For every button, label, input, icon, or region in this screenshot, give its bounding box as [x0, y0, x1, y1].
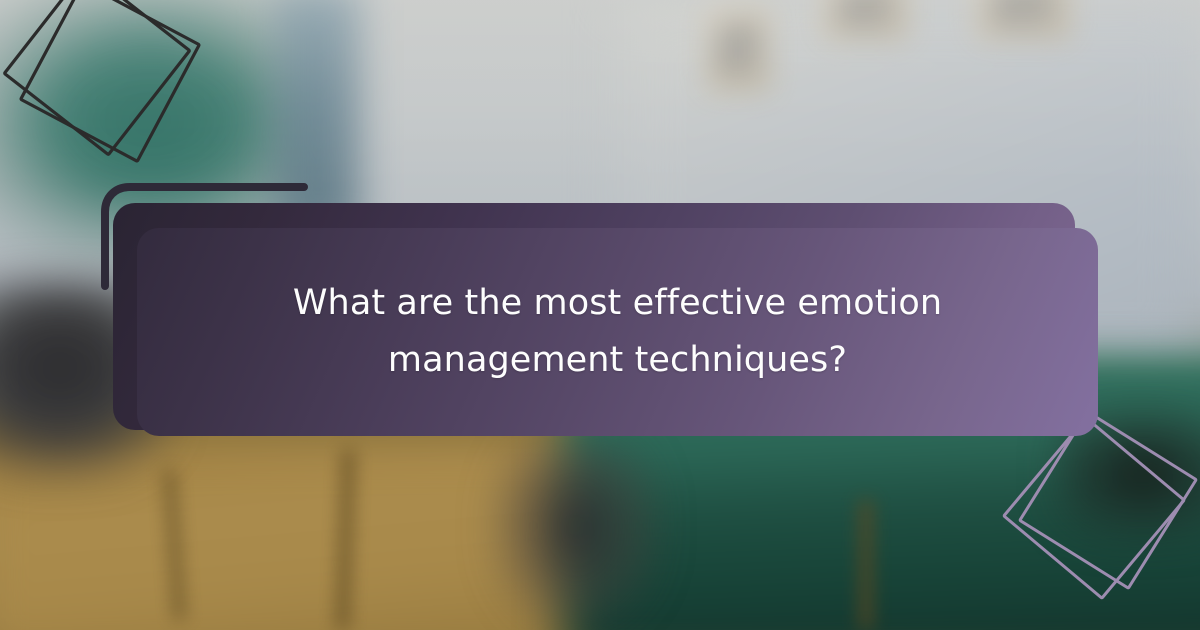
- decorative-squares-bottom-right: [988, 426, 1200, 630]
- decorative-squares-top-left: [0, 0, 226, 204]
- quote-card: What are the most effective emotion mana…: [137, 228, 1098, 436]
- square-outline-a: [1004, 418, 1184, 598]
- square-outline-b: [21, 0, 200, 161]
- square-outline-b: [1020, 412, 1196, 588]
- social-share-card-canvas: What are the most effective emotion mana…: [0, 0, 1200, 630]
- page-title: What are the most effective emotion mana…: [223, 275, 1011, 388]
